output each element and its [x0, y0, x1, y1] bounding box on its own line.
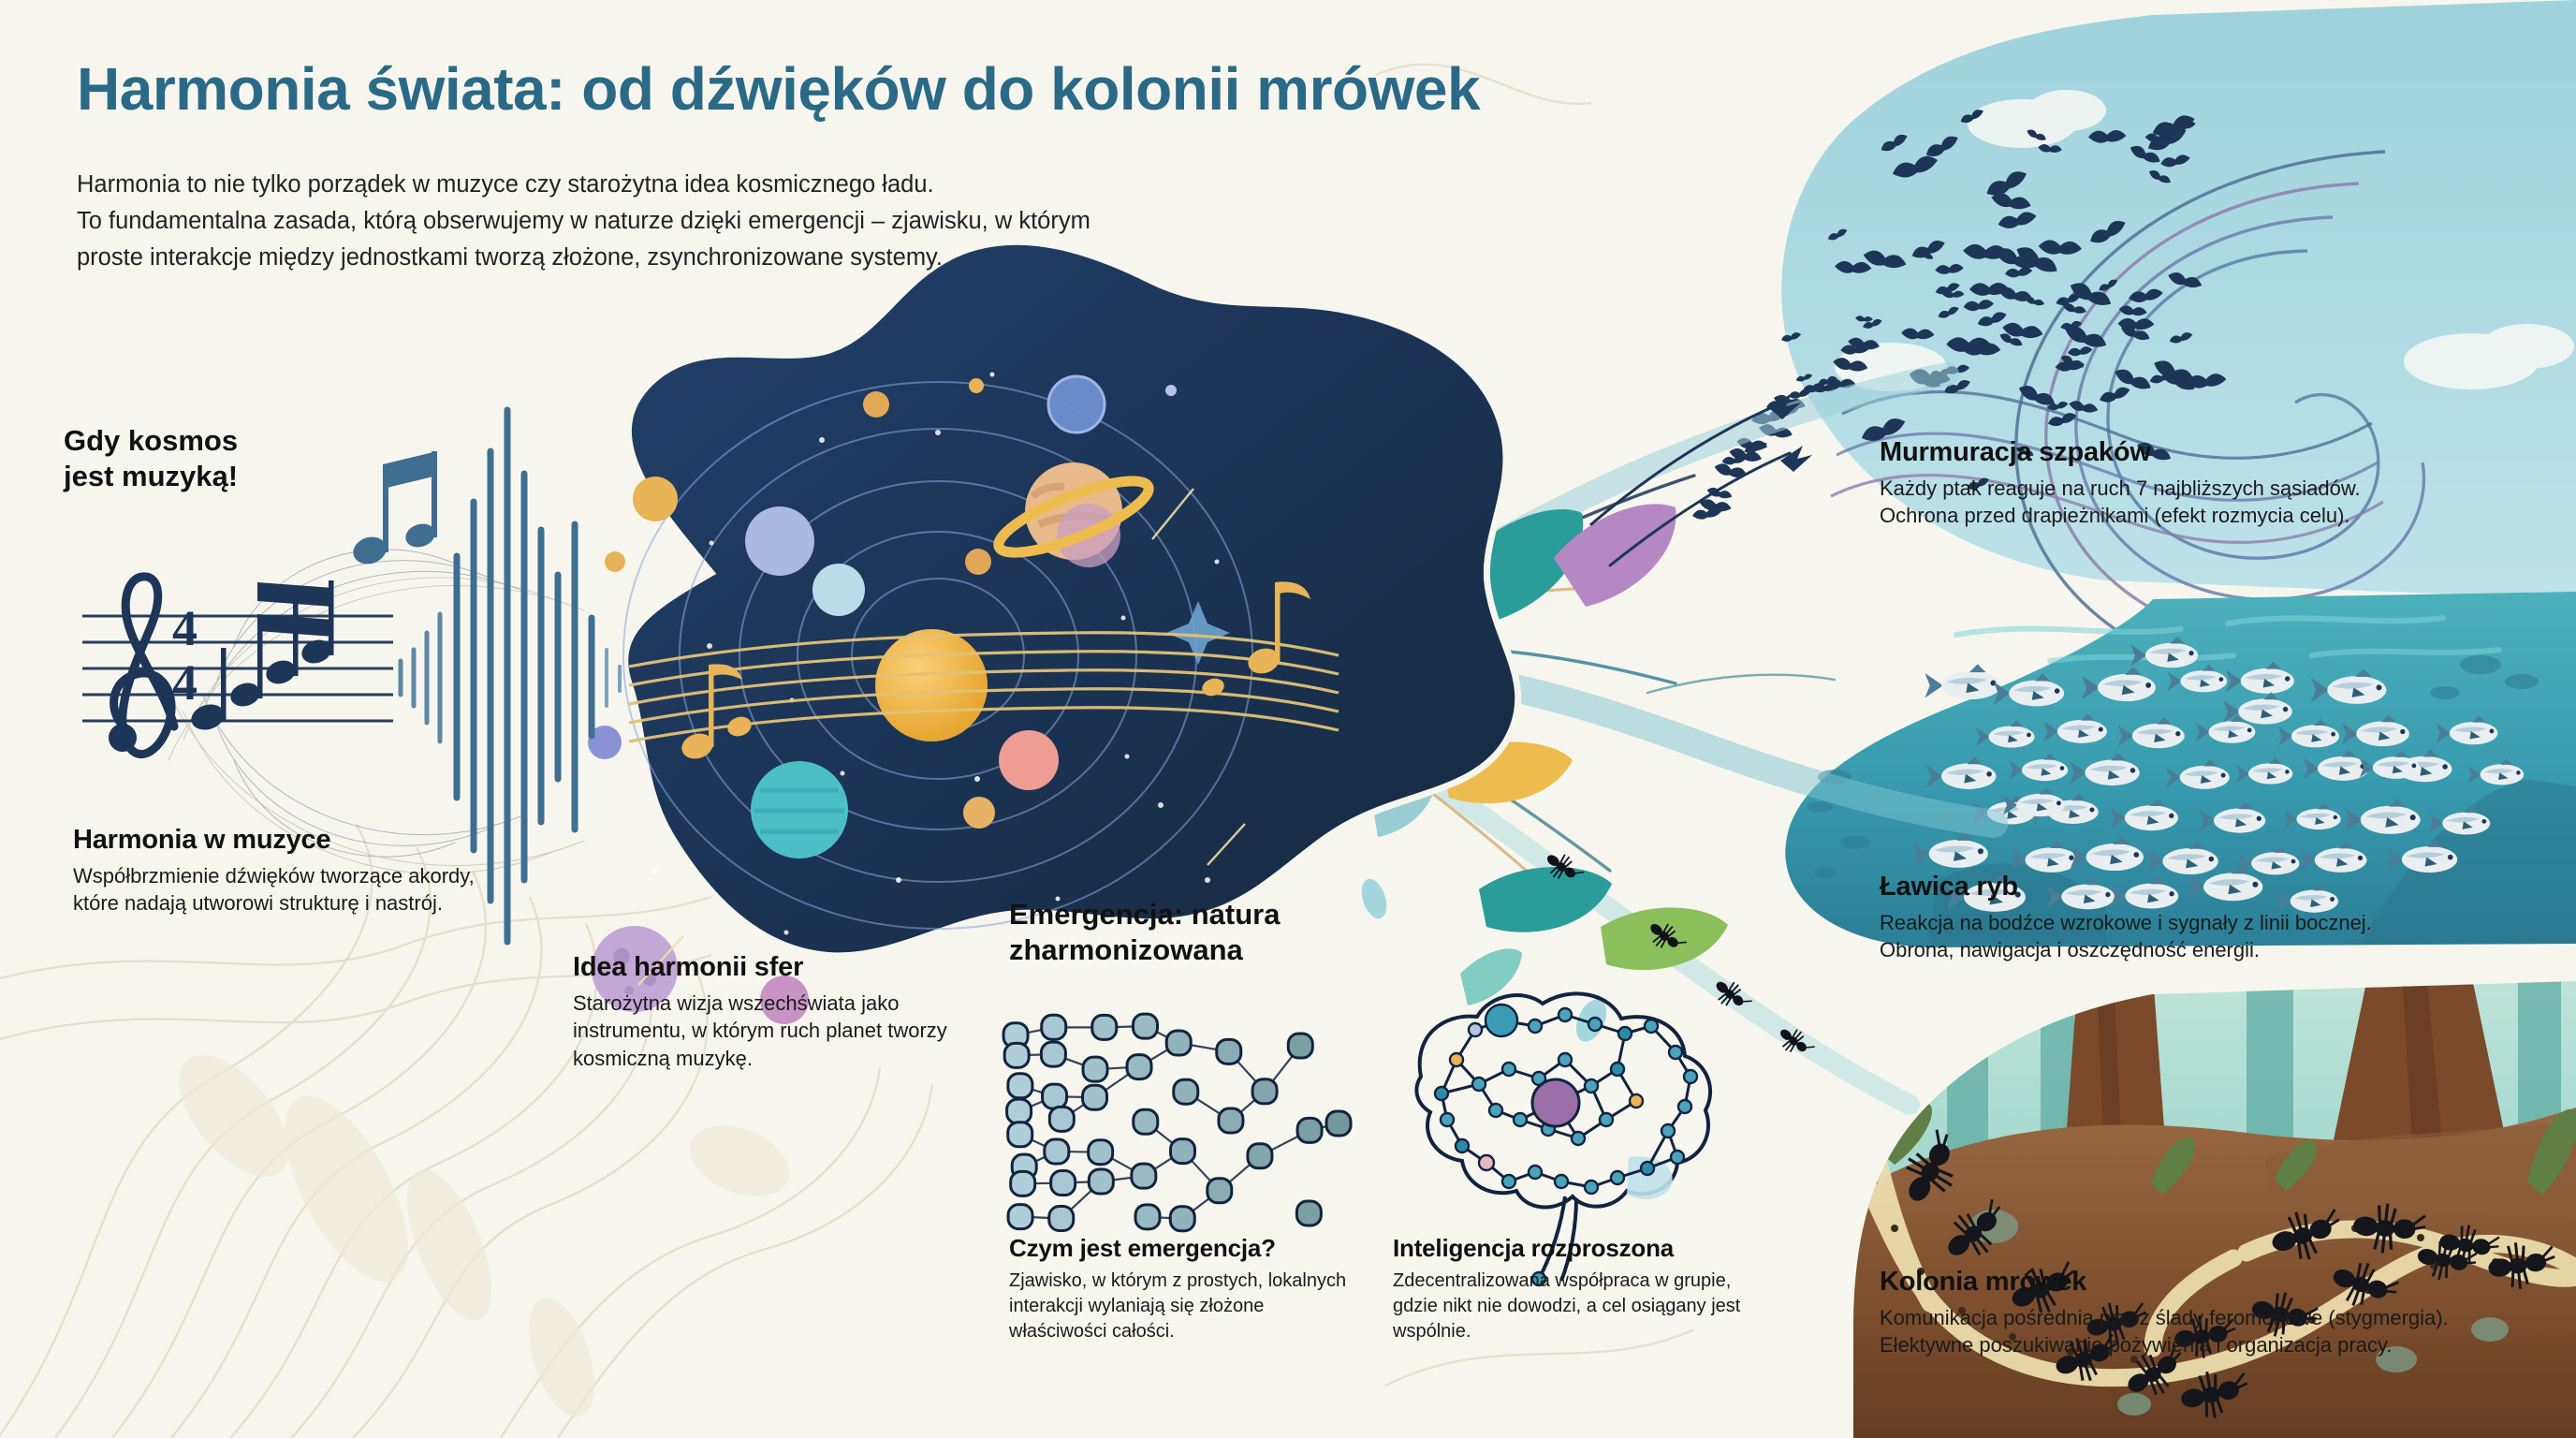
subtitle-line-3: proste interakcje między jednostkami two… — [77, 240, 1443, 276]
kosmos-heading-line-2: jest muzyką! — [64, 459, 457, 494]
kolonia-heading: Kolonia mrówek — [1880, 1266, 2572, 1299]
kolonia-body-line-2: Ełektywne poszukiwanie pożywienia i orga… — [1880, 1331, 2572, 1358]
callout-kolonia-mrowek: Kolonia mrówek Komunikacja pośrednia prz… — [1880, 1266, 2572, 1359]
murmuracja-heading: Murmuracja szpaków — [1880, 436, 2554, 469]
murmuracja-body-line-1: Każdy ptak reaguje na ruch 7 najbliższyc… — [1880, 475, 2554, 502]
idea-sfer-body: Starożytna wizja wszechświata jako instr… — [573, 990, 975, 1072]
lawica-body-line-1: Reakcja na bodźce wzrokowe i sygnały z l… — [1880, 909, 2554, 936]
emergencja-heading-line-1: Emergencja: natura — [1009, 897, 1383, 932]
time-signature-upper: 4 — [172, 599, 198, 657]
callout-lawica-ryb: Ławica ryb Reakcja na bodźce wzrokowe i … — [1880, 871, 2554, 964]
czym-emergencja-heading: Czym jest emergencja? — [1009, 1234, 1365, 1263]
infographic-canvas: Harmonia świata: od dźwięków do kolonii … — [0, 0, 2576, 1438]
callout-emergencja: Emergencja: natura zharmonizowana — [1009, 897, 1383, 969]
lawica-body-line-2: Obrona, nawigacja i oszczędność energii. — [1880, 936, 2554, 963]
subtitle-line-1: Harmonia to nie tylko porządek w muzyce … — [77, 167, 1443, 203]
harmonia-muzyce-body: Współbrzmienie dźwięków tworzące akordy,… — [73, 862, 494, 917]
murmuracja-body-line-2: Ochrona przed drapieżnikami (efekt rozmy… — [1880, 502, 2554, 529]
page-subtitle: Harmonia to nie tylko porządek w muzyce … — [77, 167, 1443, 275]
callout-murmuracja-szpakow: Murmuracja szpaków Każdy ptak reaguje na… — [1880, 436, 2554, 530]
harmonia-muzyce-heading: Harmonia w muzyce — [73, 824, 494, 857]
callout-czym-jest-emergencja: Czym jest emergencja? Zjawisko, w którym… — [1009, 1234, 1365, 1344]
callout-idea-harmonii-sfer: Idea harmonii sfer Starożytna wizja wsze… — [573, 951, 975, 1072]
emergencja-heading-line-2: zharmonizowana — [1009, 932, 1383, 968]
czym-emergencja-body: Zjawisko, w którym z prostych, lokalnych… — [1009, 1269, 1365, 1343]
page-title: Harmonia świata: od dźwięków do kolonii … — [77, 58, 2042, 121]
kosmos-heading-line-1: Gdy kosmos — [64, 423, 457, 459]
subtitle-line-2: To fundamentalna zasada, którą obserwuje… — [77, 203, 1443, 240]
time-signature-lower: 4 — [172, 653, 198, 712]
kolonia-body-line-1: Komunikacja pośrednia przez ślady feromo… — [1880, 1304, 2572, 1331]
idea-sfer-heading: Idea harmonii sfer — [573, 951, 975, 984]
callout-kosmos: Gdy kosmos jest muzyką! — [64, 423, 457, 495]
inteligencja-body: Zdecentralizowana współpraca w grupie, g… — [1393, 1269, 1777, 1343]
lawica-heading: Ławica ryb — [1880, 871, 2554, 903]
callout-inteligencja-rozproszona: Inteligencja rozproszona Zdecentralizowa… — [1393, 1234, 1777, 1344]
inteligencja-heading: Inteligencja rozproszona — [1393, 1234, 1777, 1263]
callout-harmonia-w-muzyce: Harmonia w muzyce Współbrzmienie dźwiękó… — [73, 824, 494, 917]
clef-dot — [109, 724, 137, 752]
